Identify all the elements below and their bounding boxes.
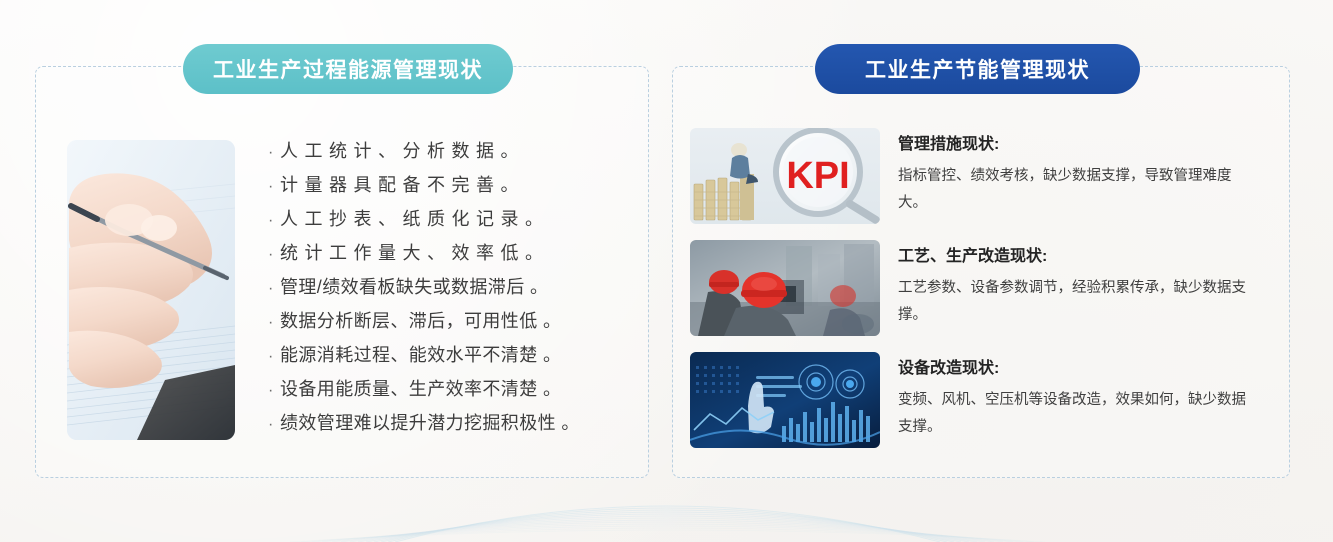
list-item-label: 统计工作量大、效率低。 (280, 239, 550, 265)
right-block-text: 设备改造现状: 变频、风机、空压机等设备改造，效果如何，缺少数据支撑。 (898, 352, 1258, 448)
writing-hand-illustration (67, 140, 235, 440)
list-item-label: 人工抄表、纸质化记录。 (280, 205, 550, 231)
left-panel-bullet-list: · 人工统计、分析数据。 · 计量器具配备不完善。 · 人工抄表、纸质化记录。 … (268, 137, 638, 443)
list-item-label: 管理/绩效看板缺失或数据滞后 。 (280, 273, 548, 299)
kpi-label: KPI (786, 155, 849, 197)
list-item: · 设备用能质量、生产效率不清楚 。 (268, 375, 638, 409)
kpi-illustration: KPI (690, 128, 880, 224)
list-item: · 人工抄表、纸质化记录。 (268, 205, 638, 239)
bullet-marker-icon: · (268, 212, 280, 230)
list-item-label: 计量器具配备不完善。 (280, 171, 525, 197)
bullet-marker-icon: · (268, 246, 280, 264)
list-item: · 绩效管理难以提升潜力挖掘积极性 。 (268, 409, 638, 443)
list-item-label: 数据分析断层、滞后，可用性低 。 (280, 307, 561, 333)
bullet-marker-icon: · (268, 348, 280, 366)
block-body: 变频、风机、空压机等设备改造，效果如何，缺少数据支撑。 (898, 387, 1258, 441)
bullet-marker-icon: · (268, 416, 280, 434)
list-item: · 计量器具配备不完善。 (268, 171, 638, 205)
list-item-label: 人工统计、分析数据。 (280, 137, 525, 163)
writing-hand-photo (67, 140, 235, 440)
right-block-text: 工艺、生产改造现状: 工艺参数、设备参数调节，经验积累传承，缺少数据支撑。 (898, 240, 1258, 336)
digital-dashboard-illustration (690, 352, 880, 448)
right-block-text: 管理措施现状: 指标管控、绩效考核，缺少数据支撑，导致管理难度大。 (898, 128, 1258, 224)
block-title: 管理措施现状: (898, 130, 1258, 154)
bullet-marker-icon: · (268, 280, 280, 298)
right-panel-heading: 工业生产节能管理现状 (815, 44, 1140, 94)
bullet-marker-icon: · (268, 144, 280, 162)
list-item: · 管理/绩效看板缺失或数据滞后 。 (268, 273, 638, 307)
block-title: 设备改造现状: (898, 354, 1258, 378)
block-body: 指标管控、绩效考核，缺少数据支撑，导致管理难度大。 (898, 163, 1258, 217)
list-item: · 人工统计、分析数据。 (268, 137, 638, 171)
factory-workers-hardhat-image (690, 240, 880, 336)
bullet-marker-icon: · (268, 382, 280, 400)
left-panel-heading: 工业生产过程能源管理现状 (183, 44, 513, 94)
right-block-management: KPI 管理措施现状: 指标管控、绩效考核，缺少数据支撑，导致管理难度大。 (690, 128, 1275, 224)
bullet-marker-icon: · (268, 178, 280, 196)
list-item: · 统计工作量大、效率低。 (268, 239, 638, 273)
right-block-process: 工艺、生产改造现状: 工艺参数、设备参数调节，经验积累传承，缺少数据支撑。 (690, 240, 1275, 336)
digital-dashboard-hand-image (690, 352, 880, 448)
factory-workers-illustration (690, 240, 880, 336)
list-item-label: 绩效管理难以提升潜力挖掘积极性 。 (280, 409, 580, 435)
right-block-equipment: 设备改造现状: 变频、风机、空压机等设备改造，效果如何，缺少数据支撑。 (690, 352, 1275, 448)
block-body: 工艺参数、设备参数调节，经验积累传承，缺少数据支撑。 (898, 275, 1258, 329)
list-item: · 能源消耗过程、能效水平不清楚 。 (268, 341, 638, 375)
block-title: 工艺、生产改造现状: (898, 242, 1258, 266)
kpi-magnifier-image: KPI (690, 128, 880, 224)
bullet-marker-icon: · (268, 314, 280, 332)
list-item-label: 设备用能质量、生产效率不清楚 。 (280, 375, 561, 401)
list-item-label: 能源消耗过程、能效水平不清楚 。 (280, 341, 561, 367)
list-item: · 数据分析断层、滞后，可用性低 。 (268, 307, 638, 341)
